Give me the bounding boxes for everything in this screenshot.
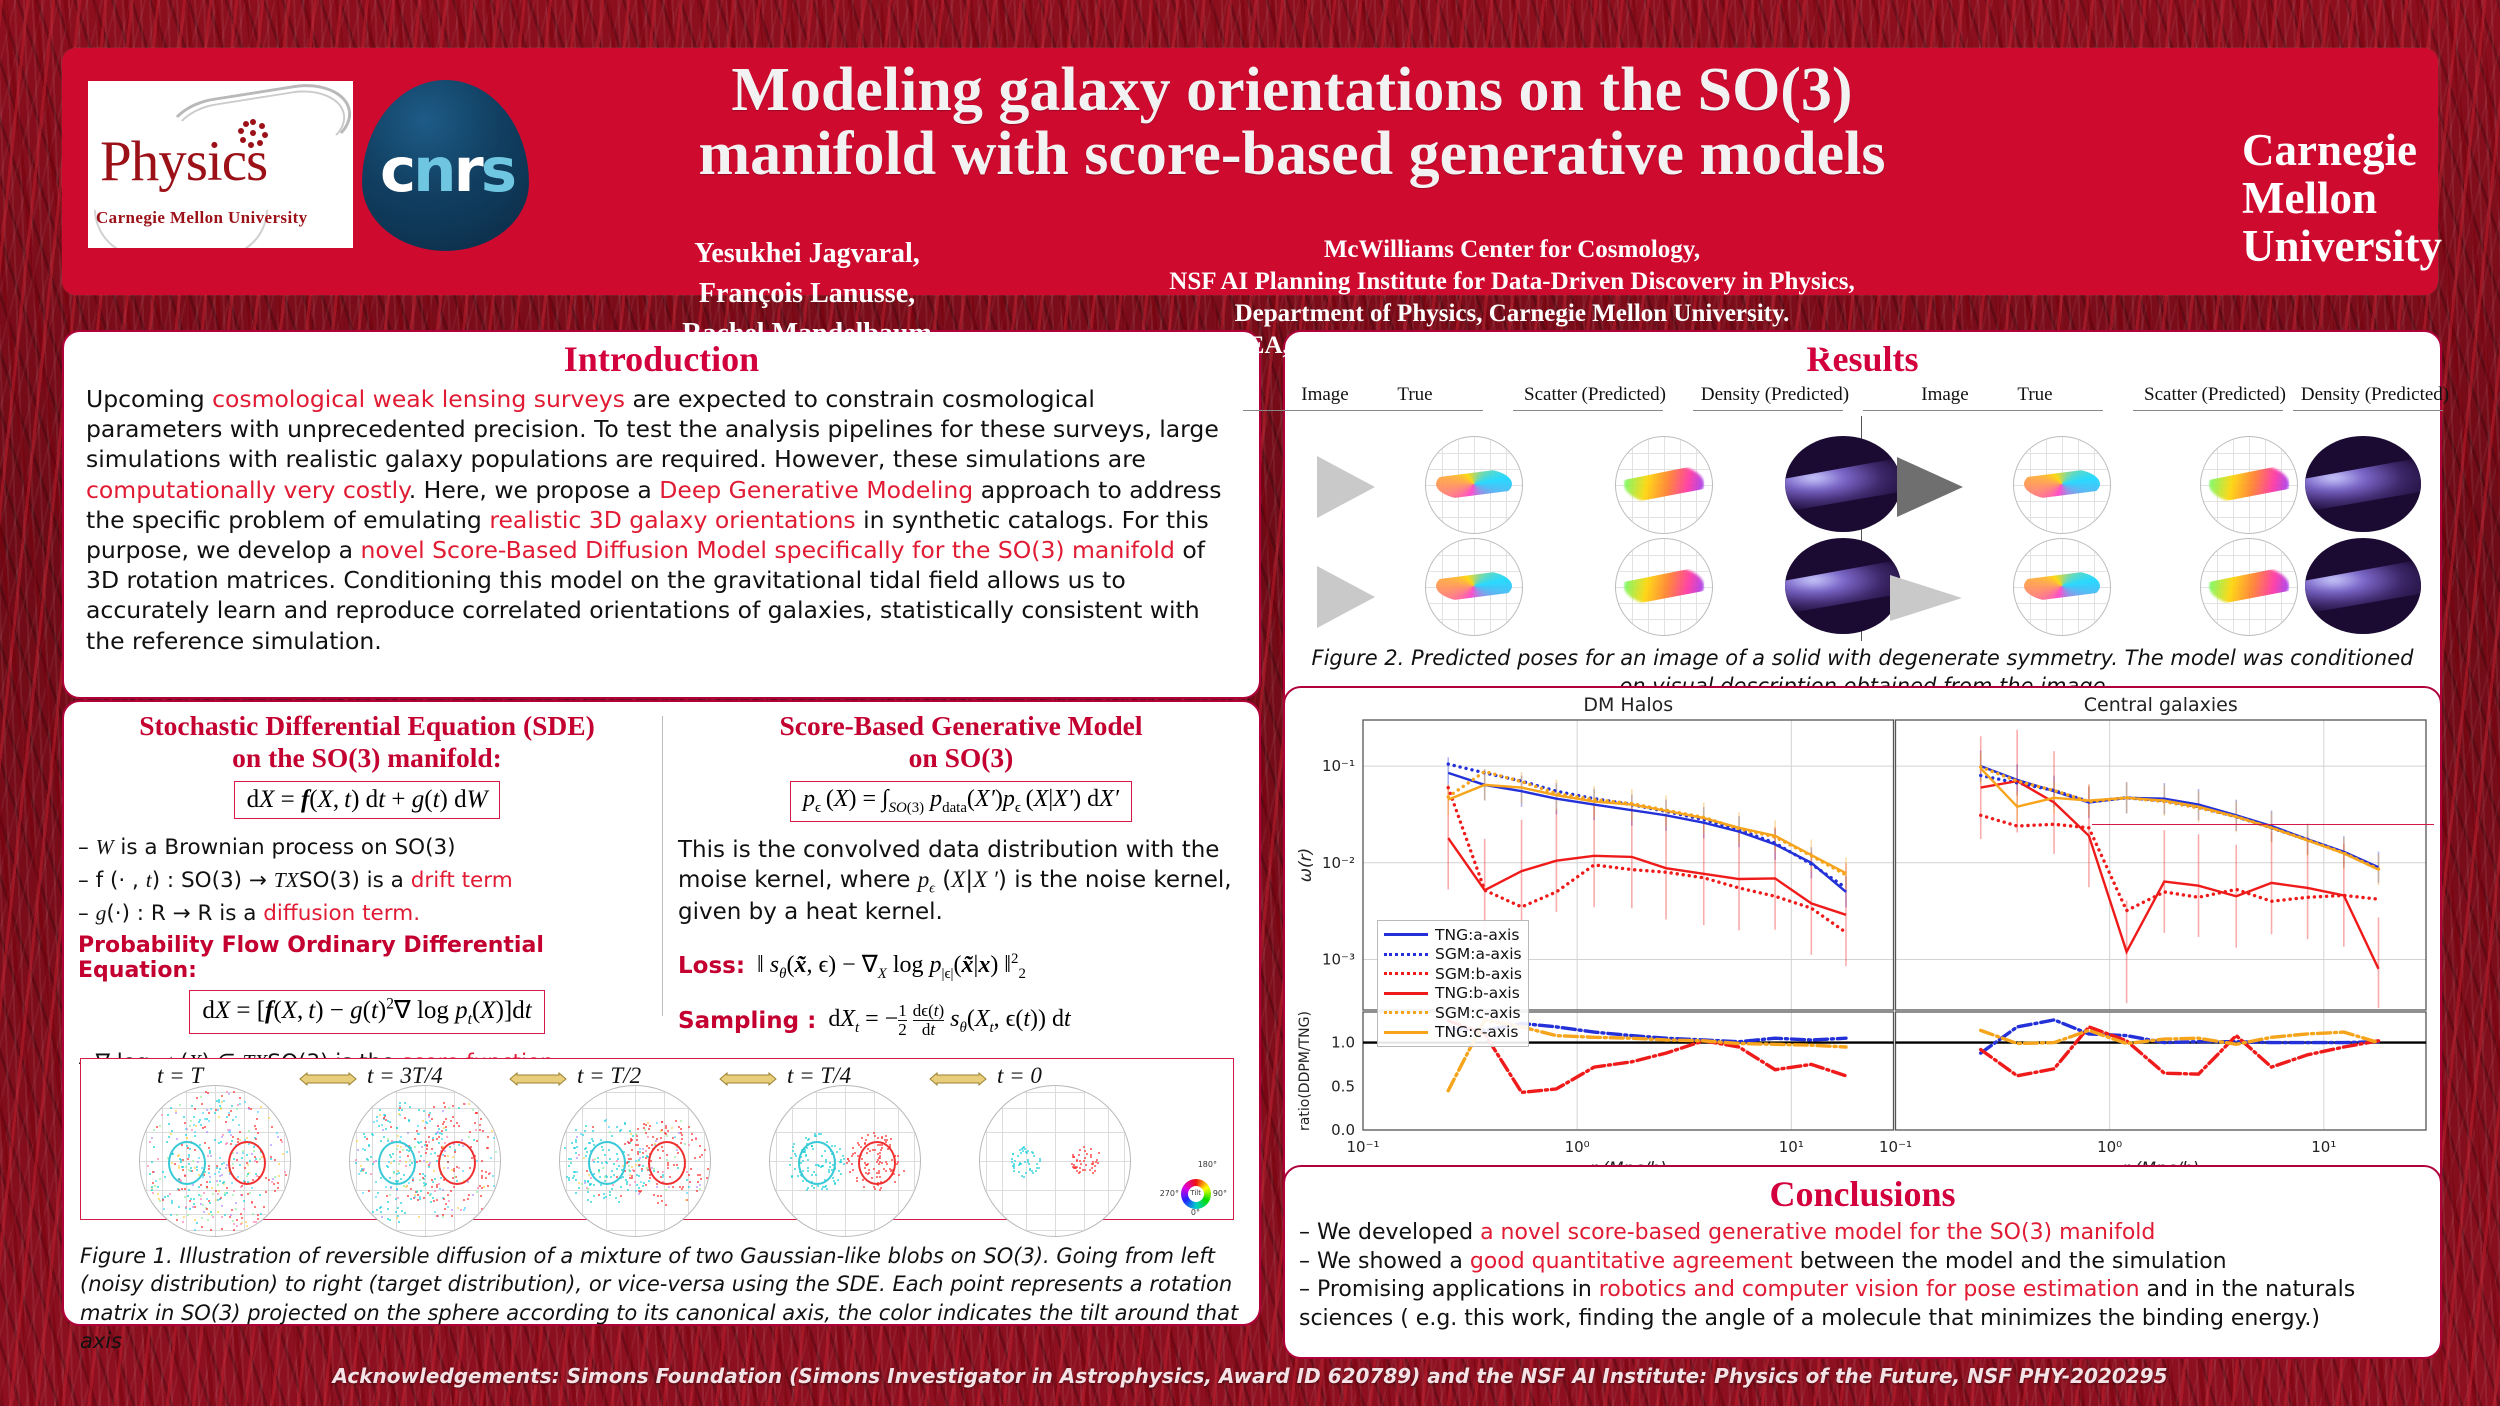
author: Rachel Mandelbaum — [622, 314, 992, 354]
sde-bullet-g: – g(·) : R → R is a diffusion term. — [78, 897, 656, 930]
legend-swatch — [1384, 953, 1428, 956]
svg-text:10⁻³: 10⁻³ — [1322, 950, 1355, 968]
result-cone-icon — [1317, 566, 1375, 628]
author-list: Yesukhei Jagvaral, François Lanusse, Rac… — [622, 234, 992, 353]
figure1-arrow-icon — [509, 1071, 567, 1082]
legend-swatch — [1384, 933, 1428, 936]
result-cone-icon — [1317, 456, 1375, 518]
svg-text:ω(r): ω(r) — [1296, 848, 1316, 883]
results-column-header: True — [1955, 384, 2115, 406]
results-column-header: Scatter (Predicted) — [1515, 384, 1675, 406]
sde-title: Stochastic Differential Equation (SDE) o… — [78, 710, 656, 774]
legend-swatch — [1384, 1011, 1428, 1014]
affiliation: Department of Physics, Carnegie Mellon U… — [1012, 298, 2012, 330]
cmu-line2: Mellon — [2242, 174, 2492, 222]
figure1-color-wheel: 180°270°90°Tilt0° — [1153, 1159, 1227, 1215]
cmu-wordmark: Carnegie Mellon University — [2242, 126, 2492, 270]
figure1-diffusion-illustration: t = Tt = 3T/4t = T/2t = T/4t = 0180°270°… — [80, 1058, 1234, 1220]
conclusions-title: Conclusions — [1285, 1173, 2440, 1215]
svg-text:10⁻¹: 10⁻¹ — [1879, 1138, 1912, 1156]
cnrs-logo-word: cnrs — [372, 135, 522, 206]
svg-text:0.0: 0.0 — [1331, 1121, 1355, 1139]
figure1-sphere — [139, 1085, 291, 1237]
author: Yesukhei Jagvaral, — [622, 234, 992, 274]
result-sphere — [2200, 538, 2298, 636]
acknowledgements: Acknowledgements: Simons Foundation (Sim… — [0, 1364, 2500, 1388]
affiliation: McWilliams Center for Cosmology, — [1012, 234, 2012, 266]
svg-text:10⁻¹: 10⁻¹ — [1322, 757, 1355, 775]
legend-label: TNG:c-axis — [1435, 1023, 1518, 1041]
affiliation: NSF AI Planning Institute for Data-Drive… — [1012, 266, 2012, 298]
figure4-chart-panel: 10⁻¹10⁰10¹r (Mpc/h)DM Halos10⁻¹10⁰10¹r (… — [1283, 686, 2442, 1190]
affiliation: AIM, CEA, CNRS, Université Paris-Saclay,… — [1012, 330, 2012, 362]
legend-item: SGM:b-axis — [1384, 964, 1522, 984]
sgm-equation: pϵ (X) = ∫SO(3) pdata(X′)pϵ (X|X′) dX′ — [790, 781, 1132, 822]
svg-text:ratio(DDPM/TNG): ratio(DDPM/TNG) — [1297, 1011, 1313, 1131]
results-column-header: Scatter (Predicted) — [2135, 384, 2295, 406]
sampling-equation: dXt = −12 dϵ(t)dt sθ(Xt, ϵ(t)) dt — [828, 1002, 1070, 1039]
figure1-sphere — [349, 1085, 501, 1237]
caption-divider — [2092, 824, 2434, 825]
result-sphere — [2013, 436, 2111, 534]
svg-text:1.0: 1.0 — [1331, 1034, 1355, 1052]
svg-text:Central galaxies: Central galaxies — [2084, 694, 2238, 716]
results-column-header: Density (Predicted) — [2295, 384, 2455, 406]
result-sphere — [1615, 538, 1713, 636]
loss-label: Loss: — [678, 953, 745, 979]
legend-label: SGM:a-axis — [1435, 945, 1522, 963]
legend-label: SGM:b-axis — [1435, 965, 1522, 983]
pfode-title: Probability Flow Ordinary Differential E… — [78, 933, 656, 983]
conclusion-bullet: – Promising applications in robotics and… — [1299, 1276, 2426, 1333]
cmu-physics-logo: Physics Carnegie Mellon University — [88, 81, 353, 248]
result-sphere — [1615, 436, 1713, 534]
sde-bullet-w: – W is a Brownian process on SO(3) — [78, 831, 656, 864]
header-underline — [1693, 410, 1843, 411]
sgm-title: Score-Based Generative Model on SO(3) — [678, 710, 1244, 774]
header-underline — [2133, 410, 2283, 411]
figure1-caption: Figure 1. Illustration of reversible dif… — [80, 1242, 1240, 1355]
introduction-panel: Introduction Upcoming cosmological weak … — [62, 330, 1261, 699]
sampling-label: Sampling : — [678, 1008, 816, 1034]
figure1-arrow-icon — [929, 1071, 987, 1082]
poster-header: Physics Carnegie Mellon University cnrs … — [62, 48, 2438, 295]
legend-swatch — [1384, 1031, 1428, 1034]
physics-logo-subtitle: Carnegie Mellon University — [96, 208, 308, 228]
results-column-header: True — [1335, 384, 1495, 406]
sde-bullets: – W is a Brownian process on SO(3) – f (… — [78, 831, 656, 931]
svg-text:10⁻²: 10⁻² — [1322, 854, 1355, 872]
result-sphere — [2013, 538, 2111, 636]
conclusions-list: – We developed a novel score-based gener… — [1285, 1219, 2440, 1333]
page-title-line1: Modeling galaxy orientations on the SO(3… — [592, 58, 1992, 122]
header-underline — [1333, 410, 1483, 411]
svg-text:0.5: 0.5 — [1331, 1077, 1355, 1095]
introduction-text: Upcoming cosmological weak lensing surve… — [64, 384, 1259, 656]
page-title-line2: manifold with score-based generative mod… — [592, 122, 1992, 186]
figure1-sphere — [769, 1085, 921, 1237]
svg-text:10⁰: 10⁰ — [1565, 1138, 1590, 1156]
legend-swatch — [1384, 972, 1428, 975]
svg-text:10⁰: 10⁰ — [2097, 1138, 2122, 1156]
figure1-timestep-label: t = T — [157, 1063, 203, 1089]
header-underline — [2293, 410, 2443, 411]
legend-item: TNG:c-axis — [1384, 1023, 1522, 1043]
result-cone-icon — [1890, 575, 1962, 621]
svg-text:10⁻¹: 10⁻¹ — [1346, 1138, 1379, 1156]
legend-item: TNG:b-axis — [1384, 984, 1522, 1004]
legend-label: SGM:c-axis — [1435, 1004, 1521, 1022]
chart-legend: TNG:a-axisSGM:a-axisSGM:b-axisTNG:b-axis… — [1377, 920, 1529, 1047]
figure1-sphere — [979, 1085, 1131, 1237]
sde-bullet-f: – f (· , t) : SO(3) → TXSO(3) is a drift… — [78, 864, 656, 897]
column-divider — [662, 716, 663, 1016]
result-sphere — [1425, 436, 1523, 534]
result-sphere — [1425, 538, 1523, 636]
legend-item: SGM:a-axis — [1384, 945, 1522, 965]
sgm-description: This is the convolved data distribution … — [678, 836, 1244, 928]
legend-item: TNG:a-axis — [1384, 925, 1522, 945]
cmu-line1: Carnegie — [2242, 126, 2492, 174]
results-column-header: Density (Predicted) — [1695, 384, 1855, 406]
legend-item: SGM:c-axis — [1384, 1003, 1522, 1023]
header-underline — [1513, 410, 1663, 411]
methods-panel: Stochastic Differential Equation (SDE) o… — [62, 700, 1261, 1326]
legend-swatch — [1384, 992, 1428, 995]
legend-label: TNG:a-axis — [1435, 926, 1519, 944]
conclusion-bullet: – We showed a good quantitative agreemen… — [1299, 1248, 2426, 1277]
affiliation-list: McWilliams Center for Cosmology, NSF AI … — [1012, 234, 2012, 362]
figure1-sphere — [559, 1085, 711, 1237]
result-density-map — [2305, 436, 2421, 532]
header-underline — [1953, 410, 2103, 411]
cmu-line3: University — [2242, 222, 2492, 270]
sde-equation: dX = f(X, t) dt + g(t) dW — [234, 781, 501, 819]
svg-text:10¹: 10¹ — [2311, 1138, 2336, 1156]
physics-logo-word: Physics — [100, 129, 267, 194]
result-sphere — [2200, 436, 2298, 534]
result-density-map — [2305, 538, 2421, 634]
conclusion-bullet: – We developed a novel score-based gener… — [1299, 1219, 2426, 1248]
result-density-map — [1785, 436, 1901, 532]
author: François Lanusse, — [622, 274, 992, 314]
page-title: Modeling galaxy orientations on the SO(3… — [592, 58, 1992, 187]
figure1-arrow-icon — [719, 1071, 777, 1082]
pfode-equation: dX = [f(X, t) − g(t)2∇ log pt(X)]dt — [189, 990, 544, 1034]
figure1-timestep-label: t = 0 — [997, 1063, 1042, 1089]
loss-equation: ‖ sθ(x̃, ϵ) − ∇X log p|ϵ|(x̃|x) ‖22 — [757, 950, 1026, 983]
svg-text:10¹: 10¹ — [1779, 1138, 1804, 1156]
figure1-arrow-icon — [299, 1071, 357, 1082]
result-density-map — [1785, 538, 1901, 634]
result-cone-icon — [1897, 457, 1963, 517]
legend-label: TNG:b-axis — [1435, 984, 1520, 1002]
svg-text:DM Halos: DM Halos — [1583, 694, 1673, 716]
cnrs-logo: cnrs — [362, 80, 529, 251]
conclusions-panel: Conclusions – We developed a novel score… — [1283, 1165, 2442, 1359]
